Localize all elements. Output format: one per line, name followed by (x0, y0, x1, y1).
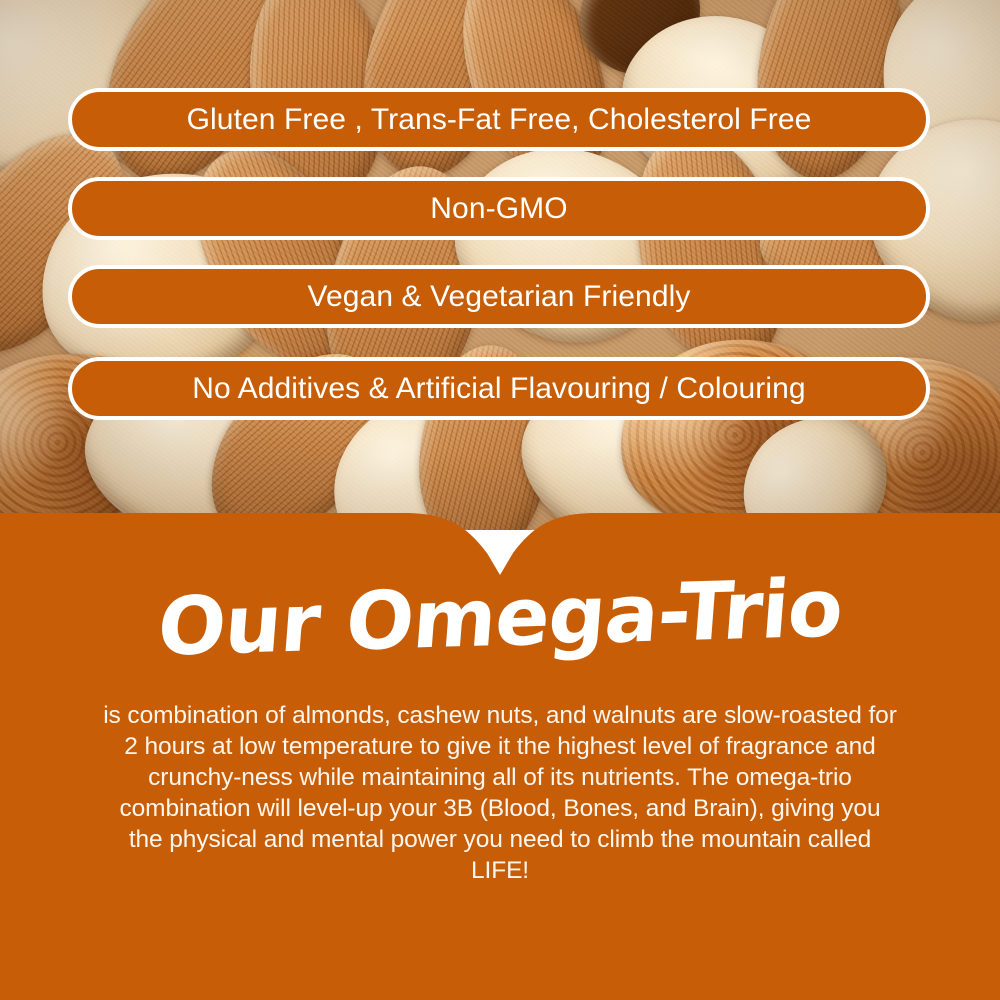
claim-badge-non-gmo: Non-GMO (68, 177, 930, 240)
claim-badge-label: Non-GMO (430, 192, 567, 226)
product-info-poster: Gluten Free , Trans-Fat Free, Cholestero… (0, 0, 1000, 1000)
claim-badge-no-additives: No Additives & Artificial Flavouring / C… (68, 357, 930, 420)
claim-badge-gluten-free: Gluten Free , Trans-Fat Free, Cholestero… (68, 88, 930, 151)
claim-badge-label: Gluten Free , Trans-Fat Free, Cholestero… (187, 103, 812, 137)
panel-body-text: is combination of almonds, cashew nuts, … (100, 700, 900, 886)
claim-badge-label: Vegan & Vegetarian Friendly (308, 280, 691, 314)
claim-badge-vegan-vegetarian: Vegan & Vegetarian Friendly (68, 265, 930, 328)
claim-badge-label: No Additives & Artificial Flavouring / C… (192, 372, 805, 406)
